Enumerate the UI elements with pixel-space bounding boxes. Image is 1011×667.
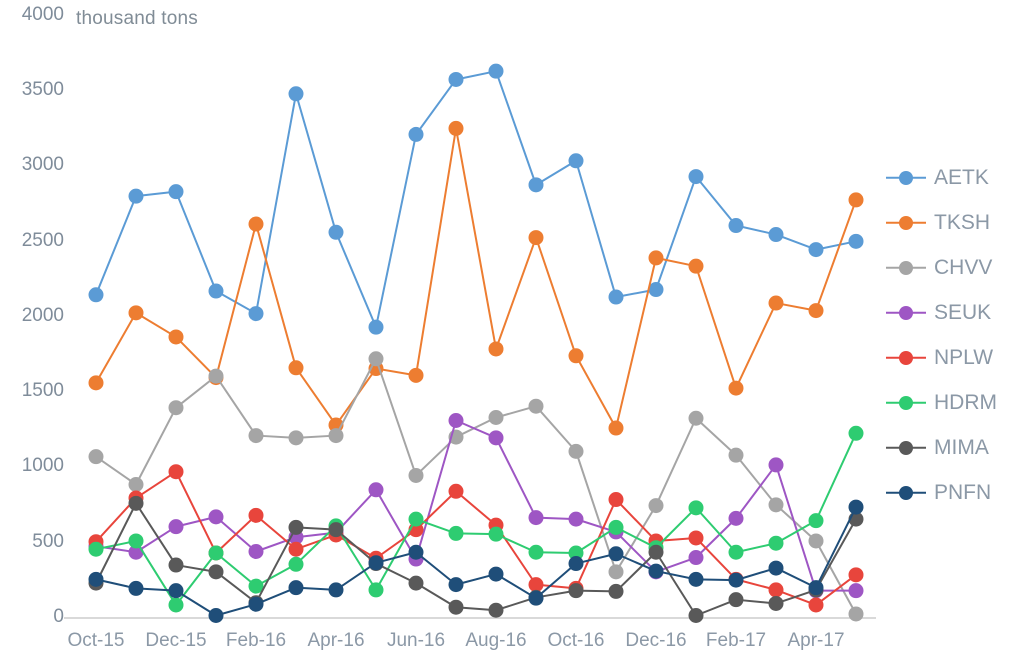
data-point-PNFN-Dec-16[interactable]	[649, 564, 664, 579]
data-point-CHVV-Dec-15[interactable]	[169, 400, 184, 415]
data-point-AETK-Oct-15[interactable]	[89, 287, 104, 302]
data-point-HDRM-May-17[interactable]	[849, 426, 864, 441]
legend-marker-dot-icon	[899, 486, 913, 500]
data-point-SEUK-Jan-17[interactable]	[689, 550, 704, 565]
data-point-SEUK-Sep-16[interactable]	[529, 510, 544, 525]
data-point-CHVV-Nov-16[interactable]	[609, 564, 624, 579]
data-point-SEUK-Aug-16[interactable]	[489, 430, 504, 445]
data-point-HDRM-Sep-16[interactable]	[529, 545, 544, 560]
data-point-TKSH-Nov-16[interactable]	[609, 421, 624, 436]
data-point-AETK-Feb-16[interactable]	[249, 306, 264, 321]
data-point-TKSH-Mar-16[interactable]	[289, 360, 304, 375]
data-point-PNFN-May-16[interactable]	[369, 555, 384, 570]
data-point-HDRM-Feb-17[interactable]	[729, 545, 744, 560]
legend-item-NPLW[interactable]: NPLW	[886, 335, 1011, 380]
data-point-AETK-Feb-17[interactable]	[729, 218, 744, 233]
data-point-CHVV-May-17[interactable]	[849, 606, 864, 621]
legend-label-AETK: AETK	[934, 166, 989, 190]
series-PNFN	[89, 500, 864, 623]
data-point-CHVV-Jan-17[interactable]	[689, 411, 704, 426]
data-point-SEUK-May-17[interactable]	[849, 583, 864, 598]
legend-marker-dot-icon	[899, 441, 913, 455]
data-point-TKSH-Jul-16[interactable]	[449, 121, 464, 136]
data-point-MIMA-Feb-17[interactable]	[729, 592, 744, 607]
data-point-MIMA-Oct-16[interactable]	[569, 583, 584, 598]
legend-swatch-PNFN-icon	[886, 486, 926, 500]
data-point-CHVV-Jan-16[interactable]	[209, 369, 224, 384]
legend-marker-dot-icon	[899, 261, 913, 275]
legend-item-PNFN[interactable]: PNFN	[886, 470, 1011, 515]
data-point-AETK-May-17[interactable]	[849, 234, 864, 249]
data-point-TKSH-Nov-15[interactable]	[129, 305, 144, 320]
legend-label-PNFN: PNFN	[934, 481, 991, 505]
data-point-NPLW-Feb-16[interactable]	[249, 508, 264, 523]
data-point-SEUK-Jan-16[interactable]	[209, 509, 224, 524]
data-point-HDRM-May-16[interactable]	[369, 582, 384, 597]
data-point-PNFN-Dec-15[interactable]	[169, 583, 184, 598]
data-point-AETK-Aug-16[interactable]	[489, 64, 504, 79]
data-point-AETK-Jan-16[interactable]	[209, 284, 224, 299]
data-point-CHVV-Jun-16[interactable]	[409, 468, 424, 483]
data-point-AETK-Jun-16[interactable]	[409, 127, 424, 142]
data-point-TKSH-Feb-17[interactable]	[729, 381, 744, 396]
data-point-HDRM-Apr-17[interactable]	[809, 513, 824, 528]
data-point-HDRM-Jan-17[interactable]	[689, 500, 704, 515]
data-point-TKSH-Jan-17[interactable]	[689, 259, 704, 274]
legend-item-MIMA[interactable]: MIMA	[886, 425, 1011, 470]
data-point-CHVV-Mar-16[interactable]	[289, 430, 304, 445]
data-point-SEUK-Oct-16[interactable]	[569, 512, 584, 527]
data-point-MIMA-Mar-16[interactable]	[289, 520, 304, 535]
chart-legend: AETKTKSHCHVVSEUKNPLWHDRMMIMAPNFN	[886, 155, 1011, 515]
legend-swatch-NPLW-icon	[886, 351, 926, 365]
data-point-AETK-May-16[interactable]	[369, 320, 384, 335]
data-point-TKSH-Dec-16[interactable]	[649, 250, 664, 265]
data-point-CHVV-Oct-16[interactable]	[569, 444, 584, 459]
data-point-HDRM-Mar-16[interactable]	[289, 557, 304, 572]
data-point-PNFN-Feb-17[interactable]	[729, 573, 744, 588]
legend-marker-dot-icon	[899, 351, 913, 365]
data-point-PNFN-Jan-17[interactable]	[689, 572, 704, 587]
series-MIMA	[89, 496, 864, 623]
data-point-PNFN-Jun-16[interactable]	[409, 545, 424, 560]
data-point-MIMA-Mar-17[interactable]	[769, 596, 784, 611]
data-point-SEUK-Feb-17[interactable]	[729, 511, 744, 526]
data-point-NPLW-Sep-16[interactable]	[529, 577, 544, 592]
data-point-TKSH-Sep-16[interactable]	[529, 230, 544, 245]
data-point-NPLW-Mar-17[interactable]	[769, 582, 784, 597]
series-TKSH	[89, 121, 864, 436]
data-point-MIMA-Jan-16[interactable]	[209, 564, 224, 579]
data-point-HDRM-Mar-17[interactable]	[769, 536, 784, 551]
plot-area	[0, 0, 1011, 667]
data-point-NPLW-Jul-16[interactable]	[449, 484, 464, 499]
data-point-SEUK-Mar-17[interactable]	[769, 457, 784, 472]
legend-label-SEUK: SEUK	[934, 301, 991, 325]
data-point-MIMA-Jan-17[interactable]	[689, 608, 704, 623]
data-point-AETK-Apr-17[interactable]	[809, 242, 824, 257]
series-line-SEUK	[96, 421, 856, 591]
data-point-NPLW-Nov-16[interactable]	[609, 492, 624, 507]
data-point-HDRM-Nov-15[interactable]	[129, 533, 144, 548]
legend-marker-dot-icon	[899, 396, 913, 410]
data-point-SEUK-Jul-16[interactable]	[449, 413, 464, 428]
data-point-AETK-Apr-16[interactable]	[329, 225, 344, 240]
data-point-CHVV-Sep-16[interactable]	[529, 399, 544, 414]
data-point-MIMA-Dec-16[interactable]	[649, 545, 664, 560]
data-point-CHVV-Apr-16[interactable]	[329, 428, 344, 443]
data-point-PNFN-Mar-17[interactable]	[769, 561, 784, 576]
data-point-AETK-Oct-16[interactable]	[569, 153, 584, 168]
data-point-HDRM-Jan-16[interactable]	[209, 546, 224, 561]
data-point-MIMA-Dec-15[interactable]	[169, 558, 184, 573]
legend-item-HDRM[interactable]: HDRM	[886, 380, 1011, 425]
data-point-CHVV-Dec-16[interactable]	[649, 498, 664, 513]
data-point-PNFN-Jan-16[interactable]	[209, 608, 224, 623]
data-point-TKSH-Jun-16[interactable]	[409, 368, 424, 383]
data-point-AETK-Dec-15[interactable]	[169, 184, 184, 199]
series-CHVV	[89, 351, 864, 621]
data-point-CHVV-May-16[interactable]	[369, 351, 384, 366]
data-point-PNFN-Apr-16[interactable]	[329, 582, 344, 597]
data-point-PNFN-Feb-16[interactable]	[249, 597, 264, 612]
legend-item-CHVV[interactable]: CHVV	[886, 245, 1011, 290]
series-AETK	[89, 64, 864, 335]
data-point-HDRM-Jun-16[interactable]	[409, 512, 424, 527]
legend-swatch-SEUK-icon	[886, 306, 926, 320]
legend-label-NPLW: NPLW	[934, 346, 993, 370]
data-point-AETK-Mar-17[interactable]	[769, 227, 784, 242]
data-point-PNFN-Nov-15[interactable]	[129, 581, 144, 596]
data-point-PNFN-Nov-16[interactable]	[609, 546, 624, 561]
data-point-TKSH-Mar-17[interactable]	[769, 296, 784, 311]
data-point-HDRM-Oct-15[interactable]	[89, 542, 104, 557]
data-point-TKSH-Aug-16[interactable]	[489, 341, 504, 356]
data-point-TKSH-May-17[interactable]	[849, 192, 864, 207]
legend-marker-dot-icon	[899, 216, 913, 230]
legend-label-CHVV: CHVV	[934, 256, 992, 280]
data-point-CHVV-Aug-16[interactable]	[489, 410, 504, 425]
legend-marker-dot-icon	[899, 171, 913, 185]
data-point-PNFN-Oct-15[interactable]	[89, 572, 104, 587]
data-point-MIMA-Nov-16[interactable]	[609, 584, 624, 599]
data-point-PNFN-Aug-16[interactable]	[489, 567, 504, 582]
data-point-MIMA-Jun-16[interactable]	[409, 576, 424, 591]
data-point-AETK-Nov-16[interactable]	[609, 290, 624, 305]
data-point-MIMA-Jul-16[interactable]	[449, 600, 464, 615]
series-line-NPLW	[96, 472, 856, 605]
data-point-HDRM-Dec-15[interactable]	[169, 597, 184, 612]
data-point-TKSH-Dec-15[interactable]	[169, 329, 184, 344]
data-point-CHVV-Mar-17[interactable]	[769, 497, 784, 512]
legend-item-TKSH[interactable]: TKSH	[886, 200, 1011, 245]
legend-swatch-MIMA-icon	[886, 441, 926, 455]
data-point-CHVV-Oct-15[interactable]	[89, 449, 104, 464]
data-point-AETK-Jul-16[interactable]	[449, 72, 464, 87]
data-point-HDRM-Aug-16[interactable]	[489, 527, 504, 542]
data-point-AETK-Jan-17[interactable]	[689, 169, 704, 184]
legend-swatch-HDRM-icon	[886, 396, 926, 410]
data-point-MIMA-Aug-16[interactable]	[489, 603, 504, 618]
data-point-SEUK-Feb-16[interactable]	[249, 544, 264, 559]
data-point-CHVV-Feb-17[interactable]	[729, 448, 744, 463]
data-point-NPLW-Mar-16[interactable]	[289, 542, 304, 557]
data-point-TKSH-Oct-16[interactable]	[569, 348, 584, 363]
legend-swatch-TKSH-icon	[886, 216, 926, 230]
legend-label-TKSH: TKSH	[934, 211, 990, 235]
series-NPLW	[89, 464, 864, 612]
data-point-TKSH-Apr-17[interactable]	[809, 303, 824, 318]
data-point-MIMA-Apr-16[interactable]	[329, 522, 344, 537]
data-point-NPLW-Jan-17[interactable]	[689, 530, 704, 545]
data-point-TKSH-Feb-16[interactable]	[249, 217, 264, 232]
legend-marker-dot-icon	[899, 306, 913, 320]
data-point-NPLW-Dec-15[interactable]	[169, 464, 184, 479]
legend-item-AETK[interactable]: AETK	[886, 155, 1011, 200]
legend-swatch-CHVV-icon	[886, 261, 926, 275]
data-point-CHVV-Feb-16[interactable]	[249, 428, 264, 443]
data-point-CHVV-Apr-17[interactable]	[809, 533, 824, 548]
data-point-PNFN-Apr-17[interactable]	[809, 580, 824, 595]
data-point-AETK-Nov-15[interactable]	[129, 189, 144, 204]
data-point-HDRM-Jul-16[interactable]	[449, 526, 464, 541]
legend-label-HDRM: HDRM	[934, 391, 997, 415]
data-point-AETK-Mar-16[interactable]	[289, 86, 304, 101]
data-point-TKSH-Oct-15[interactable]	[89, 375, 104, 390]
data-point-PNFN-Sep-16[interactable]	[529, 591, 544, 606]
data-point-CHVV-Nov-15[interactable]	[129, 477, 144, 492]
legend-item-SEUK[interactable]: SEUK	[886, 290, 1011, 335]
data-point-PNFN-Jul-16[interactable]	[449, 577, 464, 592]
data-point-MIMA-Nov-15[interactable]	[129, 496, 144, 511]
data-point-HDRM-Nov-16[interactable]	[609, 520, 624, 535]
data-point-SEUK-May-16[interactable]	[369, 482, 384, 497]
data-point-AETK-Sep-16[interactable]	[529, 177, 544, 192]
data-point-SEUK-Dec-15[interactable]	[169, 519, 184, 534]
legend-label-MIMA: MIMA	[934, 436, 989, 460]
data-point-PNFN-Oct-16[interactable]	[569, 556, 584, 571]
data-point-NPLW-Apr-17[interactable]	[809, 597, 824, 612]
data-point-PNFN-Mar-16[interactable]	[289, 580, 304, 595]
line-chart: thousand tons 05001000150020002500300035…	[0, 0, 1011, 667]
data-point-PNFN-May-17[interactable]	[849, 500, 864, 515]
data-point-NPLW-May-17[interactable]	[849, 567, 864, 582]
legend-swatch-AETK-icon	[886, 171, 926, 185]
